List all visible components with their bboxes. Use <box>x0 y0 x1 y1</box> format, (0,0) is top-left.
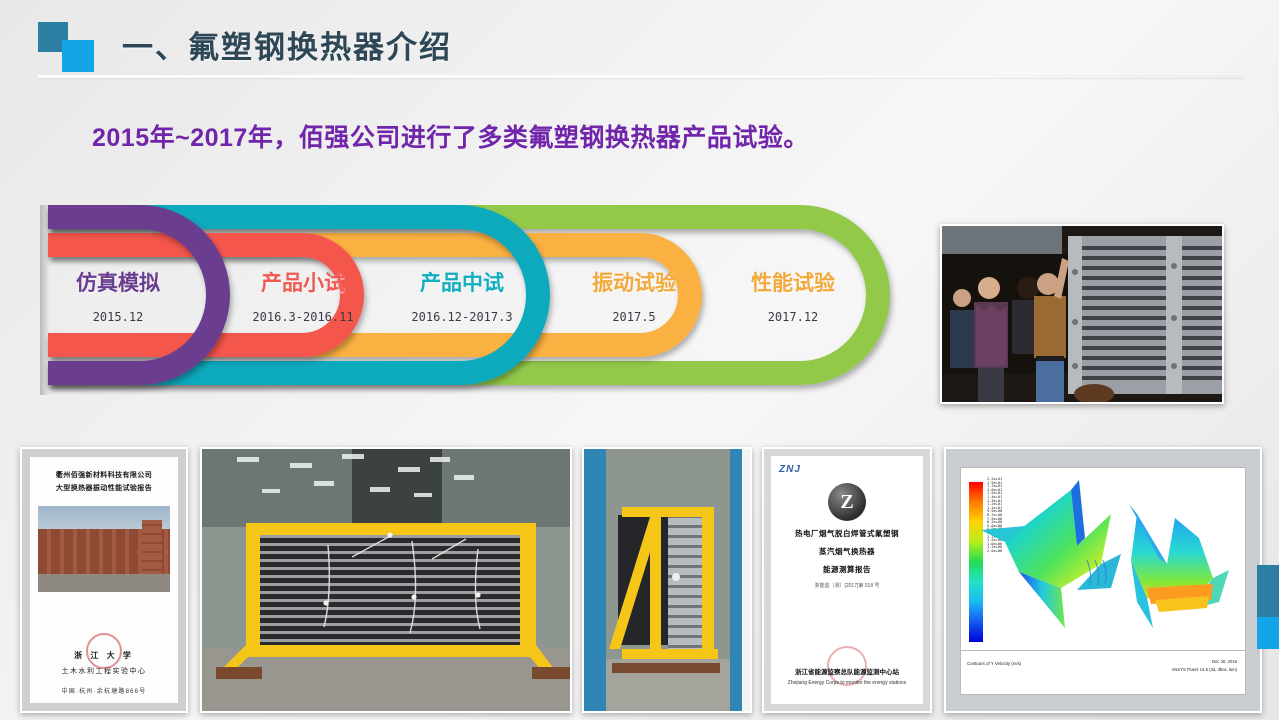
report-znj-title2: 蒸汽烟气换热器 <box>779 546 915 557</box>
edge-square-dark-icon <box>1257 565 1279 617</box>
chart-cfd-velocity-contour[interactable]: 2.2e+011.9e+011.7e+011.6e+011.5e+011.4e+… <box>944 447 1262 713</box>
report-zju-seal-icon <box>86 633 122 669</box>
timeline-stage-1[interactable]: 产品小试 2016.3-2016.11 <box>223 273 383 324</box>
photo-report-zju[interactable]: 衢州佰强新材料科技有限公司 大型换热器振动性能试验报告 浙 江 大 学 土木水利… <box>20 447 188 713</box>
report-zju-line1: 衢州佰强新材料科技有限公司 <box>56 469 152 482</box>
timeline-stage-3[interactable]: 振动试验 2017.5 <box>564 273 704 324</box>
cfd-surface-art <box>961 468 1251 654</box>
photo-rig-front-art <box>202 449 572 713</box>
stage-label: 产品中试 <box>378 273 546 294</box>
report-zju-tower <box>142 520 162 578</box>
stage-date: 2017.5 <box>564 310 704 324</box>
photo-inspection[interactable] <box>940 224 1224 404</box>
stage-label: 产品小试 <box>223 273 383 294</box>
report-zju-line2: 大型换热器振动性能试验报告 <box>56 482 152 495</box>
report-znj-cover: ZNJ Z 热电厂烟气脱白焊管式氟塑钢 蒸汽烟气换热器 能源测算报告 浙能监（测… <box>771 456 923 704</box>
report-znj-emblem-icon: Z <box>828 483 866 521</box>
report-znj-title1: 热电厂烟气脱白焊管式氟塑钢 <box>779 528 915 539</box>
stage-label: 仿真模拟 <box>58 273 178 294</box>
stage-date: 2016.12-2017.3 <box>378 310 546 324</box>
stage-date: 2016.3-2016.11 <box>223 310 383 324</box>
report-znj-footer-en: Zhejiang Energy Corps to monitor the ene… <box>771 680 923 686</box>
photo-rig-side-art <box>584 449 752 713</box>
header-square-light-icon <box>62 40 94 72</box>
cfd-caption-bar: Contours of Y Velocity (m/s) Dec 20, 201… <box>961 650 1245 694</box>
stage-label: 振动试验 <box>564 273 704 294</box>
stage-label: 性能试验 <box>723 273 863 294</box>
timeline-stage-4[interactable]: 性能试验 2017.12 <box>723 273 863 324</box>
report-znj-logo: ZNJ <box>779 464 915 475</box>
timeline-stage-0[interactable]: 仿真模拟 2015.12 <box>58 273 178 324</box>
report-znj-doc-no: 浙能监（测）[2017]第 018 号 <box>779 582 915 589</box>
page-title: 一、氟塑钢换热器介绍 <box>122 22 452 67</box>
photo-rig-side[interactable] <box>582 447 752 713</box>
stage-date: 2017.12 <box>723 310 863 324</box>
report-zju-address: 中国·杭州·余杭塘路866号 <box>62 686 147 695</box>
cfd-caption-left: Contours of Y Velocity (m/s) <box>967 661 1021 666</box>
report-znj-title3: 能源测算报告 <box>779 564 915 575</box>
timeline-stage-2[interactable]: 产品中试 2016.12-2017.3 <box>378 273 546 324</box>
stage-date: 2015.12 <box>58 310 178 324</box>
report-zju-cover: 衢州佰强新材料科技有限公司 大型换热器振动性能试验报告 浙 江 大 学 土木水利… <box>30 457 178 703</box>
edge-square-light-icon <box>1257 617 1279 649</box>
cfd-caption-date: Dec 20, 2016 <box>1212 659 1237 664</box>
cfd-frame: 2.2e+011.9e+011.7e+011.6e+011.5e+011.4e+… <box>960 467 1246 695</box>
slide-subtitle: 2015年~2017年，佰强公司进行了多类氟塑钢换热器产品试验。 <box>92 118 809 154</box>
photo-report-znj[interactable]: ZNJ Z 热电厂烟气脱白焊管式氟塑钢 蒸汽烟气换热器 能源测算报告 浙能监（测… <box>762 447 932 713</box>
cfd-caption-solver: ANSYS Fluent 14.5 (3d, dbns, lam) <box>1172 667 1237 672</box>
report-znj-footer-cn: 浙江省能源监察总队能源监测中心站 <box>771 666 923 676</box>
cfd-plot-area: 2.2e+011.9e+011.7e+011.6e+011.5e+011.4e+… <box>961 468 1245 654</box>
process-timeline: 仿真模拟 2015.12 产品小试 2016.3-2016.11 产品中试 20… <box>40 205 930 395</box>
photo-rig-front[interactable] <box>200 447 572 713</box>
title-divider <box>38 75 1243 78</box>
report-zju-building-photo <box>38 506 170 592</box>
slide-header: 一、氟塑钢换热器介绍 <box>0 0 1279 90</box>
photo-inspection-art <box>942 226 1224 404</box>
